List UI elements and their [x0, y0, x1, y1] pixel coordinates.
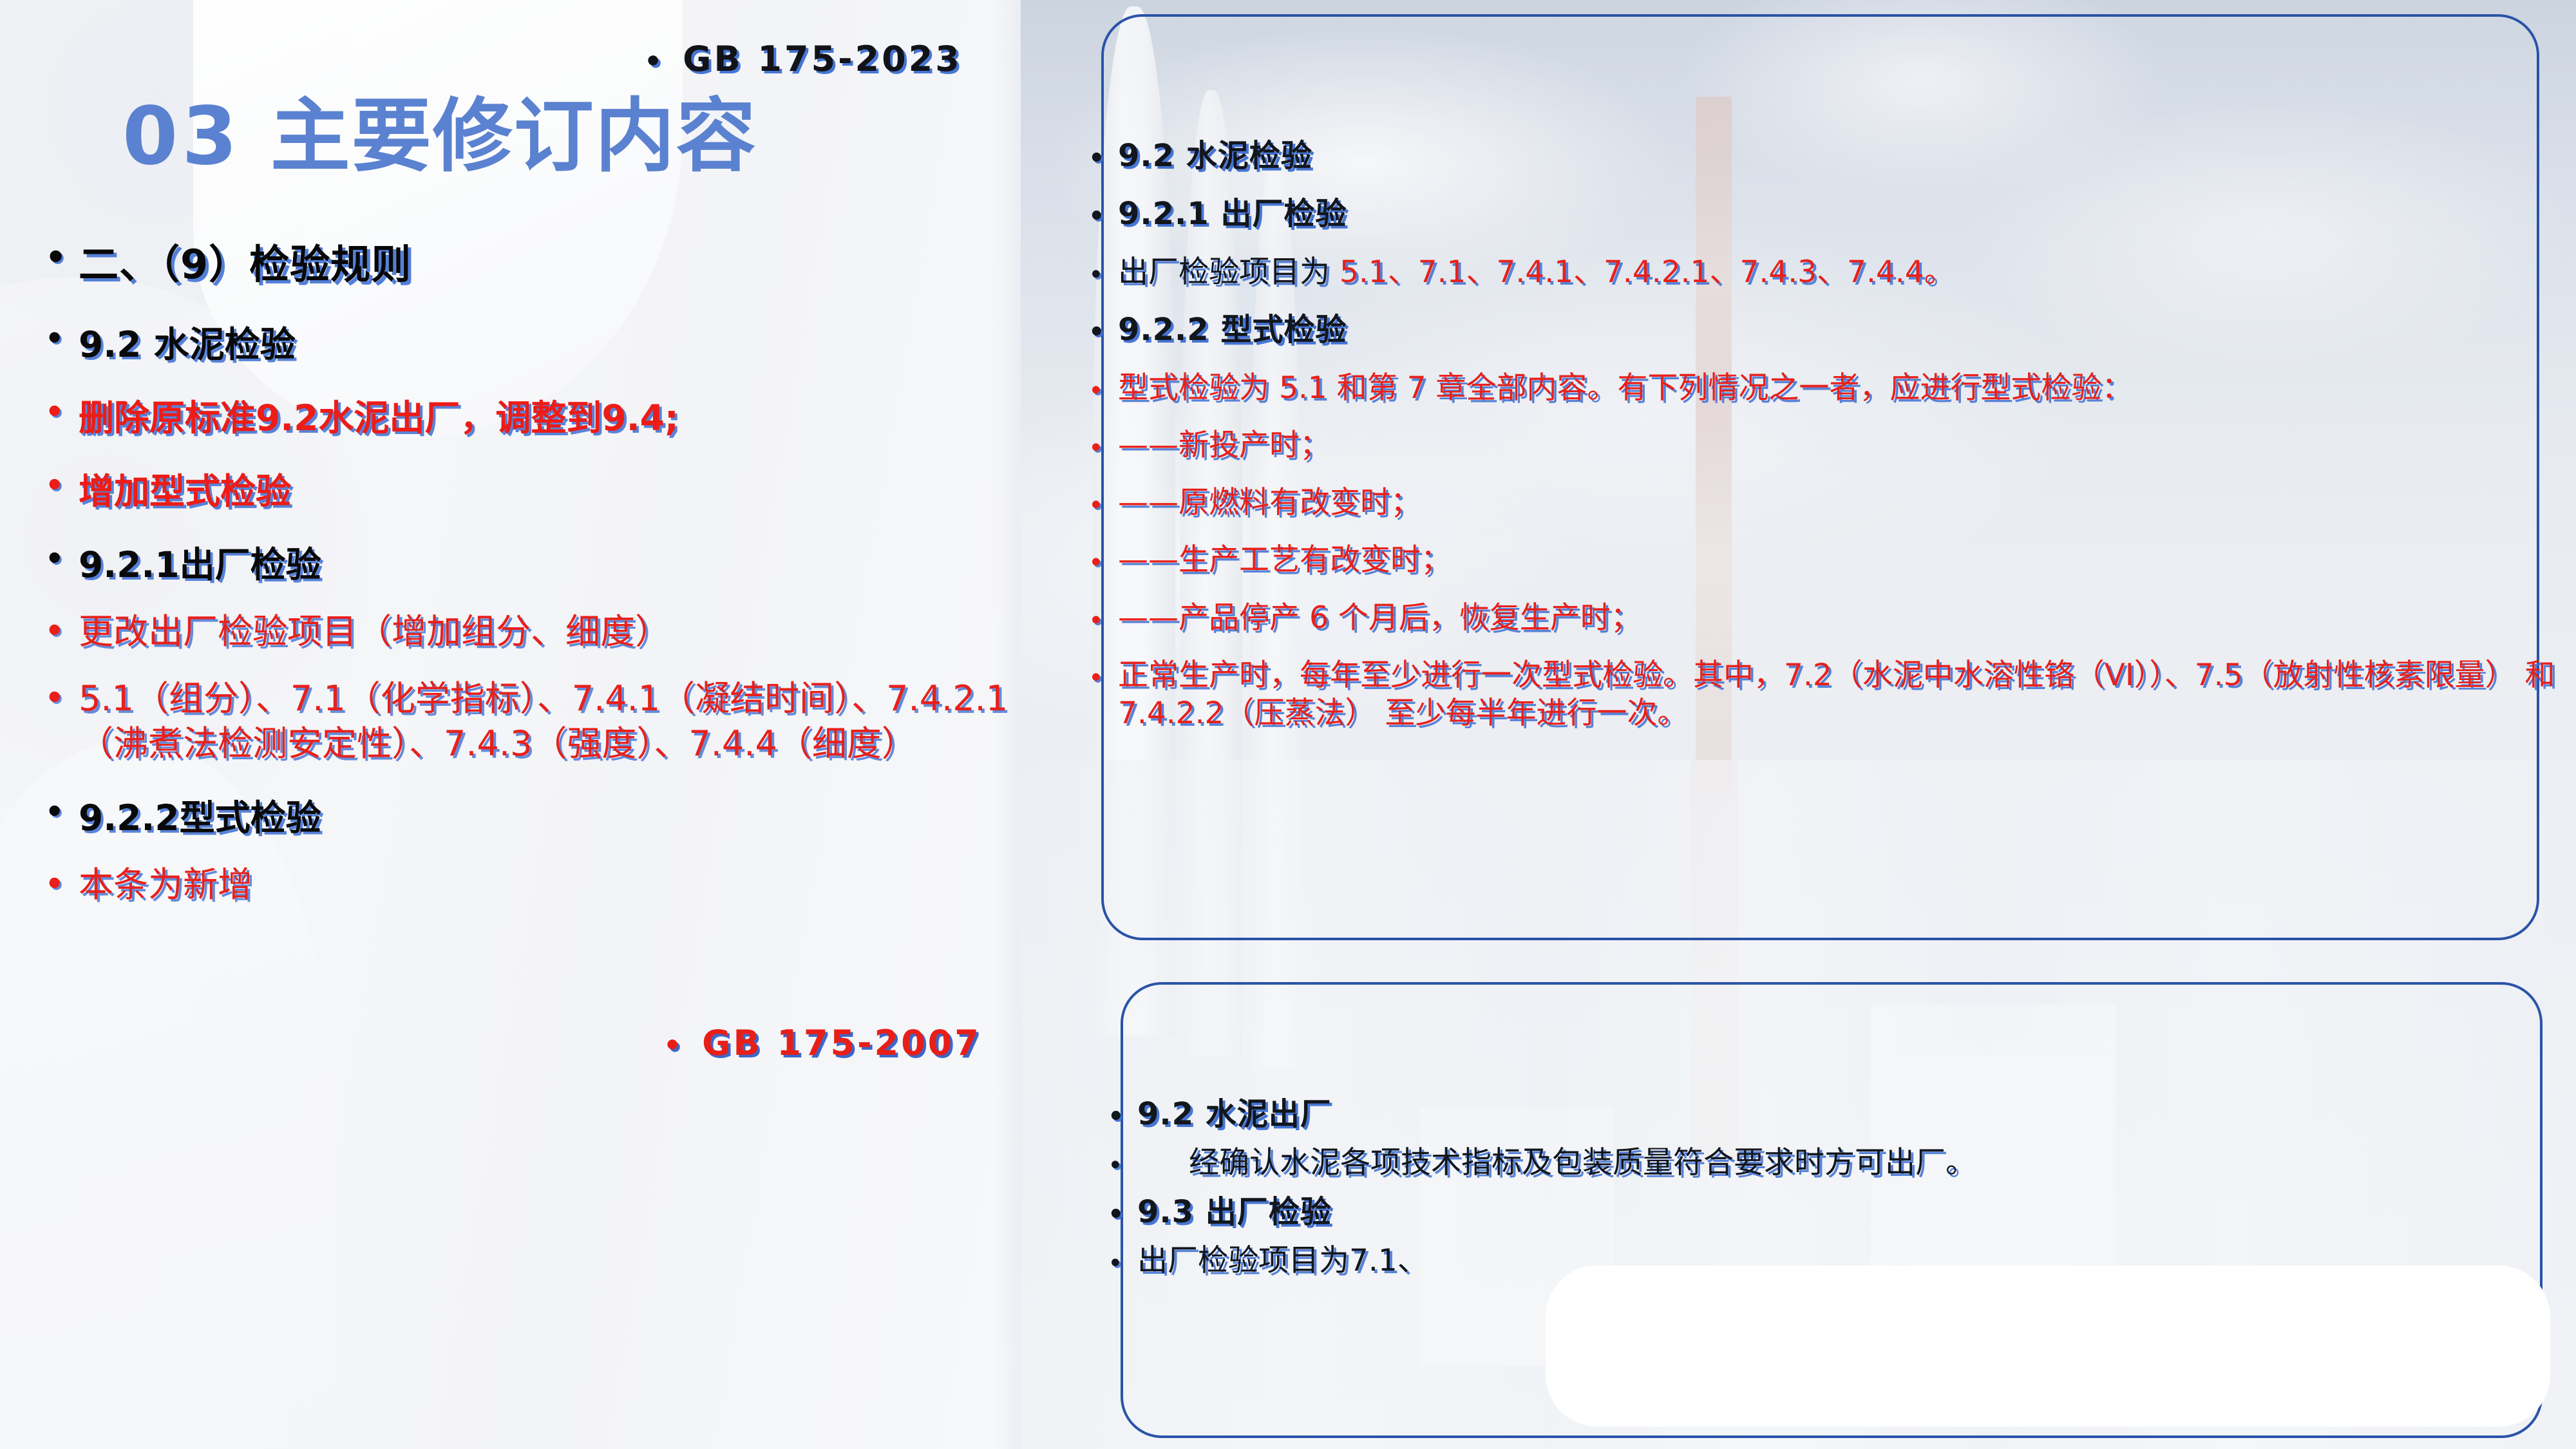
list-item: • 经确认水泥各项技术指标及包装质量符合要求时方可出厂。: [1108, 1144, 2576, 1182]
list-item: • 增加型式检验: [45, 462, 1011, 514]
list-item-label: 5.1（组分）、7.1（化学指标）、7.4.1（凝结时间）、7.4.2.1（沸煮…: [79, 676, 1011, 766]
list-item: • 9.2 水泥检验: [45, 316, 1011, 367]
list-item: • 5.1（组分）、7.1（化学指标）、7.4.1（凝结时间）、7.4.2.1（…: [45, 676, 1011, 766]
list-item: • 9.2 水泥出厂: [1108, 1095, 2576, 1133]
bullet-icon: •: [45, 316, 79, 353]
list-item-label: 删除原标准9.2水泥出厂，调整到9.4;: [79, 389, 1011, 440]
list-item: • 删除原标准9.2水泥出厂，调整到9.4;: [45, 389, 1011, 440]
white-overlay-shape: [1546, 1265, 2550, 1426]
list-item-label: 9.2.1出厂检验: [79, 536, 1011, 587]
bullet-icon: •: [1088, 253, 1118, 288]
box-2023-list: • 9.2 水泥检验 • 9.2.1 出厂检验 • 出厂检验项目为 5.1、7.…: [1088, 137, 2557, 732]
spacer: [1088, 522, 2557, 541]
spacer: [45, 767, 1011, 789]
bullet-icon: •: [1108, 1193, 1137, 1227]
bullet-icon: •: [1088, 194, 1118, 229]
bullet-icon: •: [45, 536, 79, 573]
list-item-label: 9.2 水泥出厂: [1137, 1095, 2576, 1133]
bullet-icon: •: [1088, 599, 1118, 634]
bullet-icon: •: [45, 676, 79, 712]
list-item-label: 型式检验为 5.1 和第 7 章全部内容。有下列情况之一者，应进行型式检验：: [1118, 369, 2557, 407]
bullet-icon: •: [1088, 369, 1118, 404]
list-item-label: ——原燃料有改变时；: [1118, 484, 2557, 522]
list-item: • 9.2 水泥检验: [1088, 137, 2557, 175]
bullet-icon: •: [644, 45, 665, 78]
list-item: • 9.2.1出厂检验: [45, 536, 1011, 587]
list-item-label: ——新投产时；: [1118, 426, 2557, 464]
bullet-icon: •: [45, 862, 79, 898]
section-number: 03: [122, 90, 241, 183]
bullet-icon: •: [1088, 137, 1118, 171]
bullet-icon: •: [45, 232, 79, 274]
spacer: [1108, 1182, 2576, 1193]
spacer: [45, 840, 1011, 862]
list-item: • ——生产工艺有改变时；: [1088, 541, 2557, 579]
list-item-label: ——生产工艺有改变时；: [1118, 541, 2557, 579]
left-panel: 03 主要修订内容 • 二、（9）检验规则 • 9.2 水泥检验 • 删除原标准…: [0, 0, 1021, 1449]
list-item: • 9.2.2 型式检验: [1088, 310, 2557, 349]
spacer: [1088, 291, 2557, 310]
bullet-icon: •: [1088, 484, 1118, 518]
box-2007-list: • 9.2 水泥出厂 • 经确认水泥各项技术指标及包装质量符合要求时方可出厂。 …: [1108, 1095, 2576, 1280]
bullet-icon: •: [45, 389, 79, 426]
suffix-text: 。: [1924, 254, 1955, 290]
bullet-icon: •: [663, 1029, 684, 1062]
spacer: [45, 654, 1011, 676]
highlight-clauses: 5.1、7.1、7.4.1、7.4.2.1、7.4.3、7.4.4: [1340, 254, 1924, 290]
spacer: [45, 367, 1011, 389]
spacer: [1088, 407, 2557, 426]
list-item-label: 正常生产时，每年至少进行一次型式检验。其中，7.2（水泥中水溶性铬（VI））、7…: [1118, 656, 2557, 732]
bullet-icon: •: [45, 462, 79, 500]
spacer: [1088, 175, 2557, 194]
list-item-type-test-frequency: • 正常生产时，每年至少进行一次型式检验。其中，7.2（水泥中水溶性铬（VI））…: [1088, 656, 2557, 732]
box-2023-title: •GB 175-2023: [644, 39, 962, 79]
bullet-icon: •: [1088, 426, 1118, 461]
spacer: [45, 290, 1011, 316]
slide-root: 03 主要修订内容 • 二、（9）检验规则 • 9.2 水泥检验 • 删除原标准…: [0, 0, 2576, 1449]
list-item: • 9.2.2型式检验: [45, 789, 1011, 840]
bullet-icon: •: [45, 789, 79, 826]
list-item-label: 更改出厂检验项目（增加组分、细度）: [79, 609, 1011, 654]
page-title: 03 主要修订内容: [122, 71, 972, 187]
list-item-label: 经确认水泥各项技术指标及包装质量符合要求时方可出厂。: [1137, 1144, 2576, 1182]
list-item-heading: • 二、（9）检验规则: [45, 232, 1011, 290]
list-item-label: 9.3 出厂检验: [1137, 1193, 2576, 1231]
list-item: • ——新投产时；: [1088, 426, 2557, 464]
list-item-label: 9.2.2 型式检验: [1118, 310, 2557, 349]
box-2007-title: •GB 175-2007: [663, 1023, 981, 1063]
bullet-icon: •: [1088, 310, 1118, 345]
list-item-label: 增加型式检验: [79, 462, 1011, 514]
spacer: [1108, 1231, 2576, 1242]
spacer: [45, 587, 1011, 609]
list-item-label: 出厂检验项目为 5.1、7.1、7.4.1、7.4.2.1、7.4.3、7.4.…: [1118, 253, 2557, 291]
list-item-label: 9.2 水泥检验: [79, 316, 1011, 367]
box-2007-title-text: GB 175-2007: [702, 1023, 981, 1063]
bullet-icon: •: [1108, 1144, 1137, 1179]
box-2023-title-text: GB 175-2023: [683, 39, 962, 79]
bullet-icon: •: [1088, 656, 1118, 691]
spacer: [1108, 1133, 2576, 1144]
spacer: [45, 440, 1011, 462]
bullet-icon: •: [1108, 1095, 1137, 1130]
spacer: [1088, 464, 2557, 484]
list-item-label: ——产品停产 6 个月后，恢复生产时；: [1118, 599, 2557, 637]
section-title: 主要修订内容: [270, 90, 757, 183]
list-item-inspection-items: • 出厂检验项目为 5.1、7.1、7.4.1、7.4.2.1、7.4.3、7.…: [1088, 253, 2557, 291]
left-bullet-list: • 二、（9）检验规则 • 9.2 水泥检验 • 删除原标准9.2水泥出厂，调整…: [45, 232, 1011, 907]
spacer: [1088, 580, 2557, 599]
spacer: [1088, 350, 2557, 369]
list-item: • 9.3 出厂检验: [1108, 1193, 2576, 1231]
list-item-label: 9.2.1 出厂检验: [1118, 194, 2557, 233]
prefix-text: 出厂检验项目为: [1118, 254, 1340, 290]
spacer: [1088, 234, 2557, 253]
left-heading-text: 二、（9）检验规则: [79, 232, 1011, 290]
list-item: • ——产品停产 6 个月后，恢复生产时；: [1088, 599, 2557, 637]
list-item: • 型式检验为 5.1 和第 7 章全部内容。有下列情况之一者，应进行型式检验：: [1088, 369, 2557, 407]
bullet-icon: •: [1108, 1242, 1137, 1276]
list-item: • 9.2.1 出厂检验: [1088, 194, 2557, 233]
list-item-label: 9.2 水泥检验: [1118, 137, 2557, 175]
list-item: • ——原燃料有改变时；: [1088, 484, 2557, 522]
list-item: • 本条为新增: [45, 862, 1011, 907]
list-item-label: 本条为新增: [79, 862, 1011, 907]
spacer: [1088, 637, 2557, 656]
spacer: [45, 514, 1011, 536]
bullet-icon: •: [1088, 541, 1118, 576]
bullet-icon: •: [45, 609, 79, 645]
list-item: • 更改出厂检验项目（增加组分、细度）: [45, 609, 1011, 654]
list-item-label: 9.2.2型式检验: [79, 789, 1011, 840]
